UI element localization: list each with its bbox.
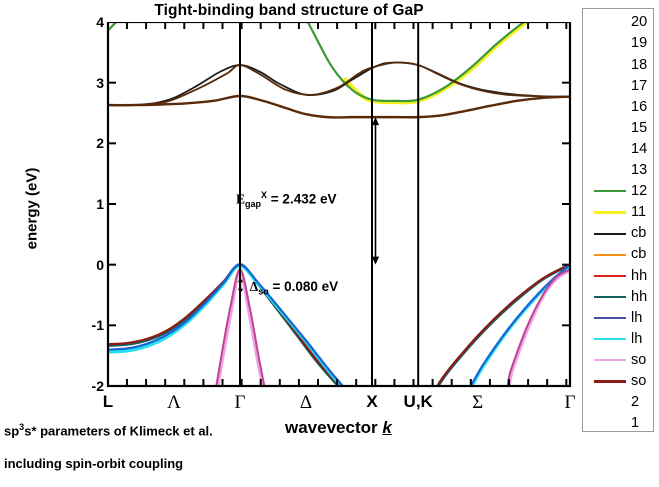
legend-item-label: cb xyxy=(631,226,653,241)
legend-color-swatch xyxy=(594,233,626,235)
band-curve-lh xyxy=(108,265,570,392)
legend-item[interactable]: 15 xyxy=(583,118,653,139)
legend-item[interactable]: so xyxy=(583,371,653,392)
legend-color-swatch xyxy=(594,401,626,403)
legend-item-label: cb xyxy=(631,247,653,262)
x-axis-title-text: wavevector xyxy=(285,418,382,437)
legend-item-label: lh xyxy=(631,311,653,326)
legend-item-label: 14 xyxy=(631,142,653,157)
legend-color-swatch xyxy=(594,127,626,129)
legend-color-swatch xyxy=(594,169,626,171)
y-axis-title: energy (eV) xyxy=(24,139,41,279)
legend-item-label: 18 xyxy=(631,58,653,73)
legend-item[interactable]: 17 xyxy=(583,75,653,96)
y-tick-label: 3 xyxy=(74,76,104,90)
x-tick-label: X xyxy=(366,392,377,412)
annotation-gap-value: = 2.432 eV xyxy=(267,192,336,207)
x-tick-label: Γ xyxy=(565,392,576,414)
x-tick-label: Σ xyxy=(472,392,483,414)
legend-color-swatch xyxy=(594,254,626,256)
legend-panel: 20191817161514131211cbcbhhhhlhlhsoso21 xyxy=(582,8,654,432)
band-curve-11 xyxy=(346,22,570,102)
legend-color-swatch xyxy=(594,317,626,319)
legend-item[interactable]: lh xyxy=(583,329,653,350)
x-tick-label: Γ xyxy=(235,392,246,414)
legend-item-label: so xyxy=(631,374,653,389)
legend-item-label: 12 xyxy=(631,184,653,199)
x-tick-label: Δ xyxy=(300,392,312,414)
legend-item[interactable]: 16 xyxy=(583,96,653,117)
band-curve-12 xyxy=(108,22,570,101)
footnote-sp: sp xyxy=(4,423,19,438)
x-axis-title-symbol: k xyxy=(382,418,391,437)
band-structure-figure: Tight-binding band structure of GaP ener… xyxy=(0,0,659,487)
legend-color-swatch xyxy=(594,43,626,45)
legend-item-label: 17 xyxy=(631,79,653,94)
annotation-so-symbol: Δ xyxy=(250,279,258,294)
legend-color-swatch xyxy=(594,106,626,108)
legend-item-label: lh xyxy=(631,332,653,347)
y-tick-label: 4 xyxy=(74,15,104,29)
legend-color-swatch xyxy=(594,275,626,277)
legend-color-swatch xyxy=(594,296,626,298)
legend-item[interactable]: cb xyxy=(583,244,653,265)
legend-item-label: 1 xyxy=(631,416,653,431)
legend-item[interactable]: 11 xyxy=(583,202,653,223)
legend-item-label: hh xyxy=(631,269,653,284)
footnote-spin-orbit: including spin-orbit coupling xyxy=(4,456,183,471)
legend-item-label: so xyxy=(631,353,653,368)
y-tick-label: -2 xyxy=(74,379,104,393)
footnote-parameters: sp3s* parameters of Klimeck et al. xyxy=(4,422,213,438)
legend-item-label: 16 xyxy=(631,100,653,115)
legend-item[interactable]: cb xyxy=(583,223,653,244)
band-curves xyxy=(108,22,570,392)
legend-item-label: 13 xyxy=(631,163,653,178)
legend-item-label: 2 xyxy=(631,395,653,410)
footnote-rest: s* parameters of Klimeck et al. xyxy=(24,423,213,438)
legend-item[interactable]: 1 xyxy=(583,413,653,434)
annotation-band-gap: EgapX = 2.432 eV xyxy=(236,190,336,209)
legend-item[interactable]: 20 xyxy=(583,12,653,33)
y-tick-label: 1 xyxy=(74,197,104,211)
legend-item[interactable]: lh xyxy=(583,307,653,328)
legend-color-swatch xyxy=(594,422,626,424)
x-axis-title: wavevector k xyxy=(285,418,392,438)
legend-item-label: hh xyxy=(631,290,653,305)
legend-item[interactable]: 18 xyxy=(583,54,653,75)
legend-item-label: 15 xyxy=(631,121,653,136)
annotation-gap-sub: gap xyxy=(245,199,261,209)
legend-item-label: 19 xyxy=(631,36,653,51)
legend-item[interactable]: hh xyxy=(583,265,653,286)
y-tick-label: 2 xyxy=(74,136,104,150)
legend-item[interactable]: 14 xyxy=(583,139,653,160)
legend-color-swatch xyxy=(594,64,626,66)
x-tick-label: L xyxy=(103,392,113,412)
x-tick-label: Λ xyxy=(167,392,181,414)
legend-color-swatch xyxy=(594,148,626,150)
legend-item[interactable]: 19 xyxy=(583,33,653,54)
annotation-spin-orbit: Δso = 0.080 eV xyxy=(235,278,338,297)
x-tick-label: U,K xyxy=(404,392,433,412)
legend-item-label: 11 xyxy=(631,205,653,220)
y-tick-label: -1 xyxy=(74,318,104,332)
y-axis-ticks: 43210-1-2 xyxy=(72,22,104,392)
legend-color-swatch xyxy=(594,211,626,214)
band-curve-cb-lowest xyxy=(108,96,570,117)
annotation-so-value: = 0.080 eV xyxy=(269,279,338,294)
legend-item[interactable]: hh xyxy=(583,286,653,307)
legend-color-swatch xyxy=(594,85,626,87)
legend-item[interactable]: 12 xyxy=(583,181,653,202)
legend-item[interactable]: 13 xyxy=(583,160,653,181)
annotation-so-sub: so xyxy=(258,287,269,297)
legend-color-swatch xyxy=(594,22,626,24)
legend-color-swatch xyxy=(594,380,626,383)
legend-color-swatch xyxy=(594,338,626,340)
legend-item-label: 20 xyxy=(631,15,653,30)
legend-color-swatch xyxy=(594,190,626,192)
y-tick-label: 0 xyxy=(74,258,104,272)
double-arrow-icon xyxy=(235,278,246,293)
legend-color-swatch xyxy=(594,359,626,361)
annotation-gap-E: E xyxy=(236,192,245,207)
legend-item[interactable]: so xyxy=(583,350,653,371)
legend-item[interactable]: 2 xyxy=(583,392,653,413)
band-curve-cb2 xyxy=(108,63,570,106)
